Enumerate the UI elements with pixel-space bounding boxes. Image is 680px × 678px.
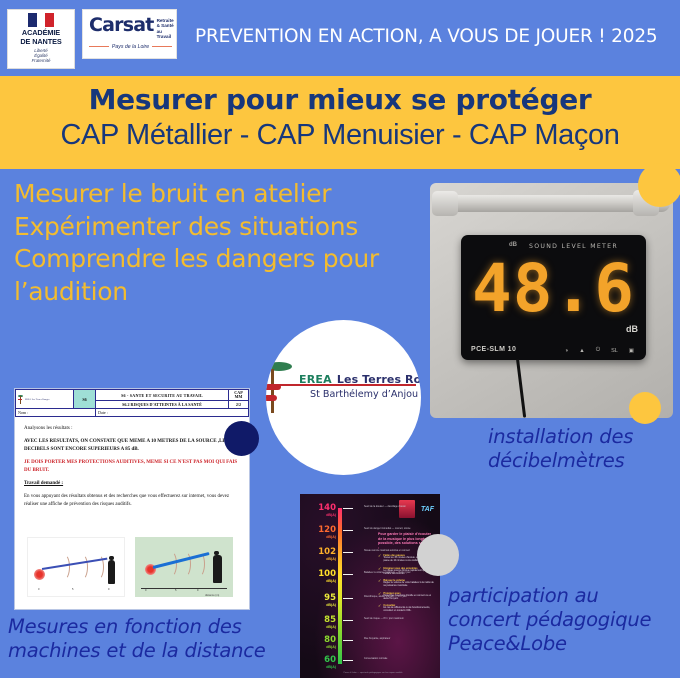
caption-concert: participation au concert pédagogique Pea… [448,584,680,656]
decorative-circle-grey [417,534,459,576]
scale-unit: dB(A) [312,579,336,583]
meter-key-backlight-icon[interactable]: ◑ [565,348,568,354]
caption-installation: installation des décibelmètres [488,425,680,473]
page-subtitle: CAP Métallier - CAP Menuisier - CAP Maço… [0,117,680,153]
meter-key-sl-icon[interactable]: SL [611,348,618,354]
poster-tip-text: Baissez le volume Réglez le volume de vo… [383,579,434,588]
worksheet-finding-text: AVEC LES RESULTATS, ON CONSTATE QUE MEME… [24,438,240,453]
scale-step: 100 [312,570,366,579]
scale-unit: dB(A) [312,665,336,669]
worksheet-tree-icon [18,395,23,404]
objective-item: Expérimenter des situations [14,211,434,244]
poster-footer: Peace & Lobe — spectacle pédagogique sur… [314,672,432,674]
meter-brand-label: SOUND LEVEL METER [529,243,618,250]
worksheet-task-text: En vous appuyant des résultats obtenus e… [24,493,240,508]
figure-axis [141,588,227,589]
caption-concert-line3: Peace&Lobe [448,632,680,656]
carsat-sub2: & Santé [157,23,174,28]
page-title: Mesurer pour mieux se protéger [0,76,680,117]
scale-step: 85 [312,616,366,625]
decorative-circle-yellow-middle-right [629,392,661,424]
objectives-list: Mesurer le bruit en atelier Expérimenter… [14,178,434,308]
scale-step: 140 [312,504,366,513]
meter-key-hold-icon[interactable]: ▣ [629,348,634,354]
meter-model-label: PCE-SLM 10 [471,346,516,353]
peace-and-lobe-poster: TAF 140 dB(A) Seuil de la douleur — déco… [300,494,440,678]
worksheet-subtitle: S6.2 RISQUES D'ATTEINTES À LA SANTÉ [96,401,229,409]
caption-installation-line1: installation des [488,425,680,449]
carsat-region: Pays de la Loire [89,44,172,50]
carsat-region-label: Pays de la Loire [112,44,149,50]
scale-value: 120 [312,526,336,535]
meter-button-row[interactable]: ◑ ▲ ⏻ SL ▣ [565,347,634,354]
erea-school-logo: EREA Les Terres Rouges St Barthélemy d’A… [266,320,421,475]
scale-desc: Seuil du danger immédiat — concert, sirè… [364,527,422,530]
poster-tip: ✓ Protégez-vous Portez des bouchons d'or… [378,592,434,601]
poster-logos: TAF [399,500,434,518]
objective-item: l’audition [14,276,434,309]
figure-distance-diagram-left: 0 5 9 [27,537,125,597]
caption-measures-line2: machines et de la distance [8,639,298,663]
scale-value: 102 [312,548,336,557]
worksheet-figures: 0 5 9 0 5 9 distance (m) [27,537,233,597]
peace-lobe-logo-icon [399,500,415,518]
carsat-sub1: Retraite [157,18,174,23]
worksheet-header-table: EREA Les Terres Rouges S6 S6 - SANTE ET … [15,389,249,417]
figure-tick: 0 [38,588,39,591]
scale-value: 85 [312,616,336,625]
check-icon: ✓ [378,554,381,563]
figure-tick: 5 [175,589,176,592]
carsat-sub3: au Travail [157,29,172,39]
header: ACADÉMIE DE NANTES Liberté Égalité Frate… [0,0,680,76]
caption-installation-line2: décibelmètres [488,449,680,473]
caption-measures-line1: Mesures en fonction des [8,615,298,639]
scale-unit: dB(A) [312,535,336,539]
sound-level-meter-photo: dB SOUND LEVEL METER 48.6 dB PCE-SLM 10 … [430,183,673,418]
check-icon: ✓ [378,567,381,576]
objective-item: Comprendre les dangers pour [14,243,434,276]
worksheet-code: S6 [74,390,96,409]
sound-wave-icon [76,554,88,580]
motto-fraternite: Fraternité [32,58,51,63]
figure-tick: 9 [197,589,198,592]
meter-key-up-icon[interactable]: ▲ [579,348,584,354]
scale-desc: Conversation normale [364,657,422,660]
worksheet-logo-cell: EREA Les Terres Rouges [16,390,74,409]
academie-logo-name: ACADÉMIE DE NANTES [20,29,61,46]
worksheet-analysis-heading: Analysons les résultats : [24,425,240,432]
decibel-scale: 140 dB(A) Seuil de la douleur — décollag… [312,504,366,669]
worksheet-name-field[interactable]: Nom : [16,409,96,417]
scale-step: 120 [312,526,366,535]
worksheet-school-label: EREA Les Terres Rouges [25,398,49,401]
poster-tip-text: Consultez En cas de sifflements ou de bo… [383,604,434,613]
caption-measures: Mesures en fonction des machines et de l… [8,615,298,663]
worksheet-right-top: CAP MM [229,390,249,401]
scale-unit: dB(A) [312,625,336,629]
worksheet-task-title: Travail demandé : [24,480,240,487]
sound-level-meter-device: dB SOUND LEVEL METER 48.6 dB PCE-SLM 10 … [461,235,646,360]
check-icon: ✓ [378,579,381,588]
scale-unit: dB(A) [312,513,336,517]
decorative-circle-yellow-top-right [638,163,680,207]
scale-value: 60 [312,656,336,665]
scale-step: 80 [312,636,366,645]
worker-figure-icon [108,560,115,584]
decorative-circle-navy [224,421,259,456]
scale-step: 102 [312,548,366,557]
sound-wave-icon [58,554,70,580]
scale-unit: dB(A) [312,603,336,607]
carsat-rule-right [152,46,172,47]
worksheet-date-field[interactable]: Date : [96,409,249,417]
academie-logo-motto: Liberté Égalité Fraternité [32,48,51,64]
scale-step: 95 [312,594,366,603]
scale-desc: Rue bruyante, aspirateur [364,637,422,640]
worksheet-right-bottom: 2/2 [229,401,249,409]
carsat-logo: Carsat Retraite & Santé au Travail Pays … [82,9,177,59]
poster-root: ACADÉMIE DE NANTES Liberté Égalité Frate… [0,0,680,678]
caption-concert-line1: participation au [448,584,680,608]
carsat-wordmark: Carsat [89,15,154,35]
header-banner-text: PREVENTION EN ACTION, A VOUS DE JOUER ! … [195,26,657,47]
poster-tip: ✓ Consultez En cas de sifflements ou de … [378,604,434,613]
erea-location: St Barthélemy d’Anjou [310,389,418,400]
scale-step: 60 [312,656,366,665]
figure-tick: 0 [145,589,146,592]
objective-item: Mesurer le bruit en atelier [14,178,434,211]
poster-tip: ✓ Baissez le volume Réglez le volume de … [378,579,434,588]
worker-figure-icon [213,555,222,583]
check-icon: ✓ [378,592,381,601]
poster-tip-text: Protégez-vous Portez des bouchons d'orei… [383,592,434,601]
scale-value: 100 [312,570,336,579]
scale-unit: dB(A) [312,645,336,649]
meter-reading-value: 48.6 [461,253,646,325]
taf-logo: TAF [421,506,434,513]
scale-desc: Seuil de la douleur — décollage d'avion [364,505,422,508]
carsat-tagline: Retraite & Santé au Travail [157,18,174,40]
french-flag-icon [28,13,54,27]
scale-value: 80 [312,636,336,645]
pipe-joint-left [432,191,458,216]
meter-db-indicator: dB [509,242,517,248]
worksheet-warning-text: JE DOIS PORTER MES PROTECTIONS AUDITIVES… [24,459,240,474]
academie-line2: DE NANTES [20,37,61,46]
tree-icon [266,362,296,414]
meter-key-power-icon[interactable]: ⏻ [596,347,600,354]
academie-de-nantes-logo: ACADÉMIE DE NANTES Liberté Égalité Frate… [7,9,75,69]
noise-source-icon [34,569,45,580]
scale-desc: Seuil de risque — 8 h / jour maximum [364,617,422,620]
scale-value: 95 [312,594,336,603]
title-banner: Mesurer pour mieux se protéger CAP Métal… [0,76,680,169]
figure-tick: 5 [72,588,73,591]
worksheet-title: S6 - SANTE ET SECURITE AU TRAVAIL [96,390,229,401]
check-icon: ✓ [378,604,381,613]
caption-concert-line2: concert pédagogique [448,608,680,632]
figure-distance-diagram-right: 0 5 9 distance (m) [135,537,233,597]
scale-value: 140 [312,504,336,513]
sound-wave-icon [179,551,191,577]
figure-tick: 9 [108,588,109,591]
meter-unit-label: dB [626,324,638,334]
worksheet-body: Analysons les résultats : AVEC LES RESUL… [15,417,249,508]
carsat-rule-left [89,46,109,47]
scale-unit: dB(A) [312,557,336,561]
figure-axis-label: distance (m) [205,594,219,597]
worksheet-document: EREA Les Terres Rouges S6 S6 - SANTE ET … [14,388,250,610]
